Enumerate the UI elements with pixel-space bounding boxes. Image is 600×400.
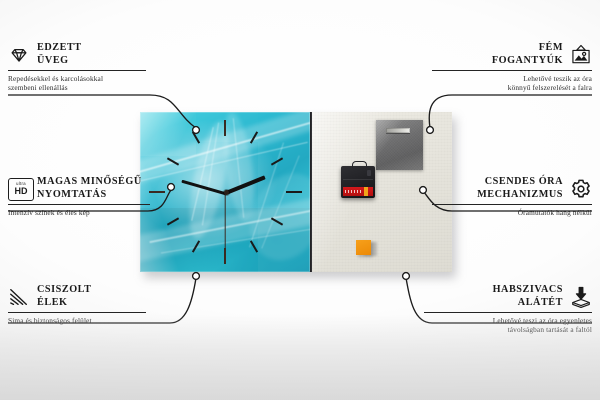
diamond-icon (8, 44, 30, 66)
callout-desc-line1: Repedésekkel és karcolásokkal (8, 74, 146, 83)
hanger-slot (386, 128, 410, 133)
callout-title: MAGAS MINŐSÉGŰ NYOMTATÁS (37, 176, 142, 201)
callout-divider (8, 204, 150, 205)
callout-desc-line2: szembeni ellenállás (8, 83, 146, 92)
callout-title: HABSZIVACS ALÁTÉT (493, 284, 563, 309)
callout-header: HABSZIVACS ALÁTÉT (424, 284, 592, 309)
wall-clock-face (140, 112, 310, 272)
callout-divider (432, 70, 592, 71)
accessory-panel (312, 112, 452, 272)
gear-icon (570, 178, 592, 200)
foam-pad (356, 240, 371, 255)
ultra-hd-icon: ultra HD (8, 178, 30, 200)
clock-center-pin (224, 190, 229, 195)
mechanism-handle (352, 161, 367, 168)
picture-hanger-icon (570, 44, 592, 66)
callout-header: FÉM FOGANTYÚK (432, 42, 592, 67)
second-hand (224, 193, 225, 255)
polished-edges-icon (8, 286, 30, 308)
callout-desc-line2: távolságban tartását a faltól (424, 325, 592, 334)
callout-desc-line1: Sima és biztonságos felület (8, 316, 146, 325)
callout-desc-line2: könnyű felszerelését a falra (432, 83, 592, 92)
product-image (140, 112, 452, 272)
metal-hanger-plate (376, 120, 423, 170)
callout-divider (432, 204, 592, 205)
callout-title: CSENDES ÓRA MECHANIZMUS (477, 176, 563, 201)
clock-mechanism (341, 166, 375, 198)
callout-divider (8, 312, 146, 313)
callout-divider (424, 312, 592, 313)
infographic-stage: EDZETT ÜVEG Repedésekkel és karcolásokka… (0, 0, 600, 400)
callout-header: CSENDES ÓRA MECHANIZMUS (432, 176, 592, 201)
callout-desc-line1: Lehetővé teszik az óra (432, 74, 592, 83)
callout-foam-backing: HABSZIVACS ALÁTÉT Lehetővé teszi az óra … (424, 284, 592, 334)
callout-tempered-glass: EDZETT ÜVEG Repedésekkel és karcolásokka… (8, 42, 146, 92)
callout-header: EDZETT ÜVEG (8, 42, 146, 67)
callout-desc-line1: Óramutatók hang nélkül (432, 208, 592, 217)
callout-title: FÉM FOGANTYÚK (492, 42, 563, 67)
callout-header: ultra HD MAGAS MINŐSÉGŰ NYOMTATÁS (8, 176, 150, 201)
callout-title: EDZETT ÜVEG (37, 42, 82, 67)
callout-divider (8, 70, 146, 71)
callout-desc-line1: Intenzív színek és éles kép (8, 208, 150, 217)
callout-polished-edges: CSISZOLT ÉLEK Sima és biztonságos felüle… (8, 284, 146, 325)
mechanism-label (343, 187, 373, 196)
foam-pad-press-icon (570, 286, 592, 308)
callout-hd-print: ultra HD MAGAS MINŐSÉGŰ NYOMTATÁS Intenz… (8, 176, 150, 217)
callout-metal-handles: FÉM FOGANTYÚK Lehetővé teszik az óra kön… (432, 42, 592, 92)
callout-silent-mechanism: CSENDES ÓRA MECHANIZMUS Óramutatók hang … (432, 176, 592, 217)
ultra-hd-large-text: HD (15, 187, 28, 196)
callout-desc-line1: Lehetővé teszi az óra egyenletes (424, 316, 592, 325)
callout-header: CSISZOLT ÉLEK (8, 284, 146, 309)
callout-title: CSISZOLT ÉLEK (37, 284, 91, 309)
